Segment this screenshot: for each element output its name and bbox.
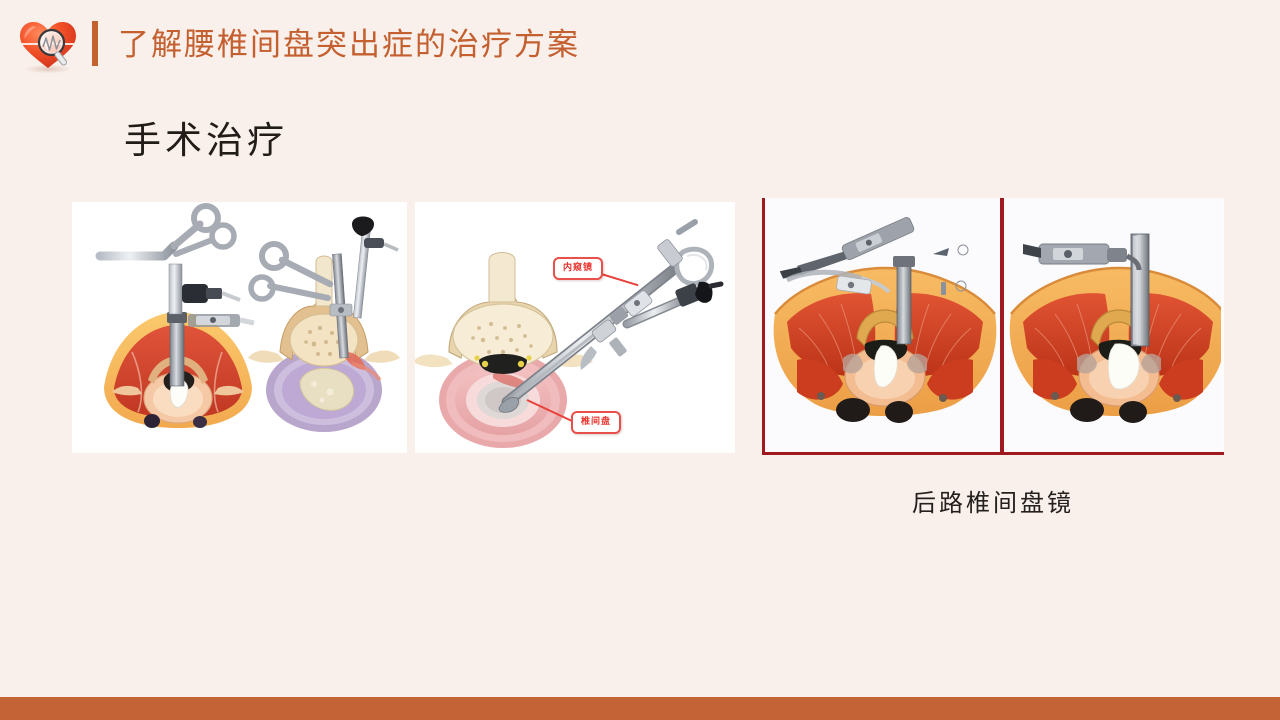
figure-area: 内窥镜 椎间盘	[0, 0, 1280, 720]
slide-root: 了解腰椎间盘突出症的治疗方案 手术治疗	[0, 0, 1280, 720]
callout-label-disc: 椎间盘	[571, 411, 621, 434]
callout-label-endoscope: 内窥镜	[553, 257, 603, 280]
figure-left-panel	[72, 202, 407, 453]
figure-right-panel	[762, 198, 1224, 455]
right-panel-divider	[1000, 198, 1004, 455]
figure-caption-posterior-discoscopy: 后路椎间盘镜	[762, 483, 1224, 518]
footer-bar	[0, 697, 1280, 720]
